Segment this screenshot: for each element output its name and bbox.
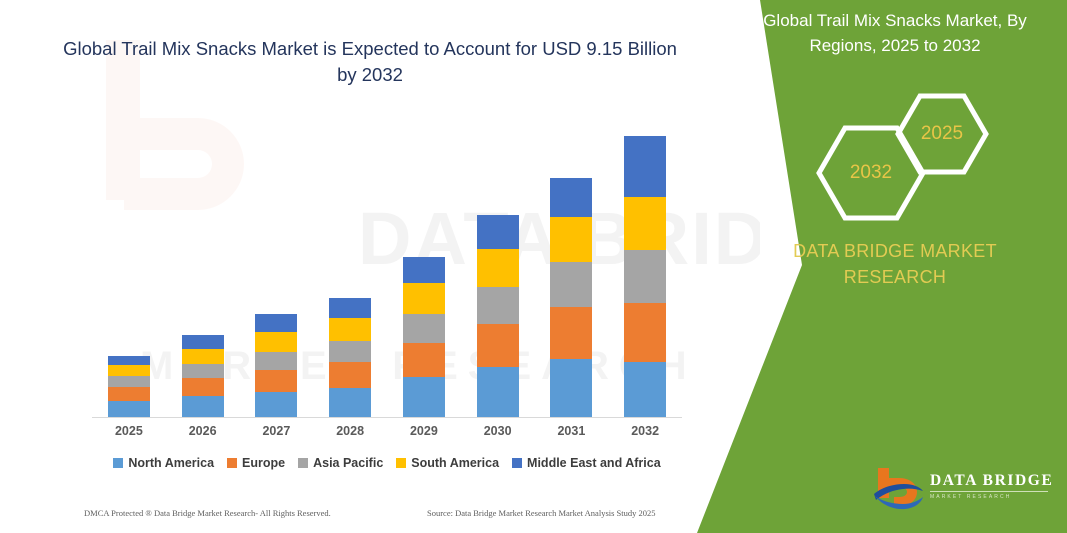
legend-item[interactable]: Europe (227, 456, 285, 470)
footer: DMCA Protected ® Data Bridge Market Rese… (0, 506, 760, 528)
x-axis-label: 2025 (99, 424, 159, 438)
bar-segment (624, 362, 666, 417)
legend-label: North America (128, 456, 214, 470)
bar-segment (477, 215, 519, 249)
legend-item[interactable]: South America (396, 456, 499, 470)
logo-name: DATA BRIDGE (930, 472, 1052, 490)
legend-swatch (298, 458, 308, 468)
bar-segment (108, 376, 150, 387)
logo-divider (930, 491, 1048, 492)
bar-group (108, 356, 150, 417)
chart-panel: DATA BRIDGE MARKET RESEARCH Global Trail… (0, 0, 760, 533)
legend-item[interactable]: Asia Pacific (298, 456, 383, 470)
bar-segment (182, 396, 224, 417)
x-axis-label: 2027 (246, 424, 306, 438)
legend-item[interactable]: North America (113, 456, 214, 470)
footer-copyright: DMCA Protected ® Data Bridge Market Rese… (84, 508, 331, 518)
bar-segment (182, 378, 224, 396)
x-axis-label: 2031 (541, 424, 601, 438)
x-axis-label: 2028 (320, 424, 380, 438)
legend-label: South America (411, 456, 499, 470)
bar-segment (477, 324, 519, 367)
bar-segment (329, 298, 371, 318)
bar-segment (255, 314, 297, 332)
bar-segment (477, 287, 519, 324)
legend-label: Asia Pacific (313, 456, 383, 470)
bar-segment (403, 377, 445, 417)
hexagon-badges: 2025 2032 (815, 92, 990, 212)
bar-segment (329, 362, 371, 388)
bar-segment (403, 314, 445, 343)
bar-segment (624, 250, 666, 303)
brand-panel-title: Global Trail Mix Snacks Market, By Regio… (745, 8, 1045, 58)
bar-segment (550, 178, 592, 217)
hexagon-start-label: 2025 (921, 123, 963, 145)
bar-segment (329, 388, 371, 417)
x-axis-line (92, 417, 682, 418)
bar-segment (108, 387, 150, 401)
bar-segment (403, 257, 445, 283)
legend-item[interactable]: Middle East and Africa (512, 456, 661, 470)
data-bridge-wordmark: DATA BRIDGE MARKET RESEARCH (930, 472, 1052, 500)
chart-legend: North AmericaEuropeAsia PacificSouth Ame… (92, 456, 682, 470)
footer-source: Source: Data Bridge Market Research Mark… (427, 508, 656, 518)
bar-segment (329, 318, 371, 341)
hexagon-end-label: 2032 (850, 162, 892, 184)
bar-segment (550, 217, 592, 262)
logo-tagline: MARKET RESEARCH (930, 494, 1052, 500)
data-bridge-mark-icon (872, 466, 924, 514)
bar-group (550, 178, 592, 417)
bar-segment (403, 343, 445, 377)
x-axis-label: 2026 (173, 424, 233, 438)
brand-name: DATA BRIDGE MARKET RESEARCH (775, 238, 1015, 290)
bar-segment (624, 303, 666, 362)
bar-segment (550, 359, 592, 417)
x-axis-label: 2032 (615, 424, 675, 438)
stacked-bar-chart (92, 110, 682, 418)
bar-group (329, 298, 371, 417)
bar-segment (624, 136, 666, 197)
page-title: Global Trail Mix Snacks Market is Expect… (60, 36, 680, 88)
legend-label: Europe (242, 456, 285, 470)
bar-segment (108, 356, 150, 365)
legend-swatch (512, 458, 522, 468)
bar-segment (624, 197, 666, 250)
hexagon-badge-end: 2032 (815, 124, 927, 222)
bar-segment (108, 365, 150, 376)
bar-group (624, 136, 666, 417)
bar-segment (477, 249, 519, 287)
bar-segment (550, 307, 592, 359)
bar-group (403, 257, 445, 417)
bar-segment (108, 401, 150, 417)
plot-area (92, 110, 682, 418)
bar-group (255, 314, 297, 417)
bar-group (477, 215, 519, 417)
bar-segment (403, 283, 445, 314)
infographic-canvas: DATA BRIDGE MARKET RESEARCH Global Trail… (0, 0, 1067, 533)
x-axis-label: 2030 (468, 424, 528, 438)
bar-group (182, 335, 224, 417)
bar-segment (255, 392, 297, 417)
bar-segment (329, 341, 371, 362)
legend-swatch (396, 458, 406, 468)
bar-segment (182, 335, 224, 349)
legend-swatch (227, 458, 237, 468)
bar-segment (255, 352, 297, 370)
data-bridge-logo: DATA BRIDGE MARKET RESEARCH (872, 466, 1052, 514)
legend-label: Middle East and Africa (527, 456, 661, 470)
bar-segment (255, 332, 297, 352)
bar-segment (550, 262, 592, 307)
bar-segment (182, 349, 224, 364)
bar-segment (255, 370, 297, 392)
legend-swatch (113, 458, 123, 468)
bar-segment (182, 364, 224, 378)
x-axis-label: 2029 (394, 424, 454, 438)
bar-segment (477, 367, 519, 417)
x-axis-labels: 20252026202720282029203020312032 (92, 424, 682, 444)
